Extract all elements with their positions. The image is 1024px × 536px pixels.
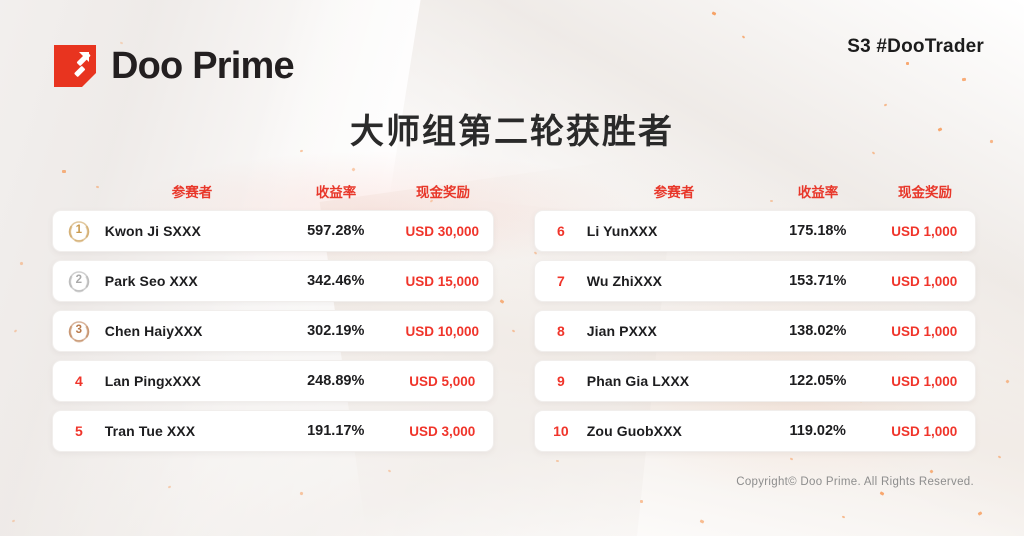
confetti-dot [998,455,1002,458]
header-participant-right: 参赛者 [586,181,762,201]
table-row[interactable]: 5Tran Tue XXX191.17%USD 3,000 [52,410,494,452]
confetti-dot [1005,379,1009,383]
brand-logo: Doo Prime [52,43,294,89]
copyright-text: Copyright© Doo Prime. All Rights Reserve… [736,476,974,488]
rank-number: 10 [535,423,587,439]
column-header-row-left: 参赛者 收益率 现金奖励 [52,180,494,202]
leaderboard-left-column: 参赛者 收益率 现金奖励 1Kwon Ji SXXX597.28%USD 30,… [52,180,494,460]
return-rate-value: 248.89% [280,373,392,389]
header-return-rate-left: 收益率 [280,181,392,201]
return-rate-value: 302.19% [280,323,392,339]
table-row[interactable]: 2Park Seo XXX342.46%USD 15,000 [52,260,494,302]
cash-prize-value: USD 3,000 [391,424,493,439]
leaderboard-right-column: 参赛者 收益率 现金奖励 6Li YunXXX175.18%USD 1,0007… [534,180,976,460]
return-rate-value: 175.18% [762,223,874,239]
confetti-dot [906,62,909,65]
poster-canvas: Doo Prime S3 #DooTrader 大师组第二轮获胜者 参赛者 收益… [0,0,1024,536]
confetti-dot [929,469,933,473]
return-rate-value: 597.28% [280,223,392,239]
return-rate-value: 153.71% [762,273,874,289]
leaderboard-rows-left: 1Kwon Ji SXXX597.28%USD 30,0002Park Seo … [52,210,494,452]
table-row[interactable]: 8Jian PXXX138.02%USD 1,000 [534,310,976,352]
table-row[interactable]: 1Kwon Ji SXXX597.28%USD 30,000 [52,210,494,252]
doo-prime-mark-icon [52,43,98,89]
rank-number: 8 [535,323,587,339]
rank-number: 5 [53,423,105,439]
header-participant-left: 参赛者 [104,181,280,201]
confetti-dot [168,486,172,489]
return-rate-value: 191.17% [280,423,392,439]
leaderboard: 参赛者 收益率 现金奖励 1Kwon Ji SXXX597.28%USD 30,… [52,180,976,460]
participant-name: Lan PingxXXX [105,373,280,389]
cash-prize-value: USD 10,000 [391,324,493,339]
table-row[interactable]: 7Wu ZhiXXX153.71%USD 1,000 [534,260,976,302]
rank-number: 7 [535,273,587,289]
rank-medal-silver-icon: 2 [53,268,105,294]
confetti-dot [12,520,16,523]
confetti-dot [880,491,885,496]
participant-name: Chen HaiyXXX [105,323,280,339]
rank-medal-bronze-icon: 3 [53,318,105,344]
return-rate-value: 119.02% [762,423,874,439]
cash-prize-value: USD 1,000 [873,424,975,439]
confetti-dot [388,469,392,472]
header-cash-prize-left: 现金奖励 [392,181,494,201]
page-title: 大师组第二轮获胜者 [0,104,1024,153]
confetti-dot [842,516,845,519]
brand-logo-text: Doo Prime [111,47,294,85]
confetti-dot [712,11,717,15]
confetti-dot [742,35,746,38]
rank-medal-gold-icon: 1 [53,218,105,244]
confetti-dot [556,460,559,462]
cash-prize-value: USD 15,000 [391,274,493,289]
table-row[interactable]: 10Zou GuobXXX119.02%USD 1,000 [534,410,976,452]
header-return-rate-right: 收益率 [762,181,874,201]
participant-name: Kwon Ji SXXX [105,223,280,239]
leaderboard-rows-right: 6Li YunXXX175.18%USD 1,0007Wu ZhiXXX153.… [534,210,976,452]
participant-name: Phan Gia LXXX [587,373,762,389]
confetti-dot [14,329,18,332]
participant-name: Park Seo XXX [105,273,280,289]
rank-number: 9 [535,373,587,389]
confetti-dot [640,500,643,503]
rank-number: 4 [53,373,105,389]
confetti-dot [962,78,966,81]
cash-prize-value: USD 1,000 [873,274,975,289]
confetti-dot [300,492,304,496]
return-rate-value: 138.02% [762,323,874,339]
cash-prize-value: USD 1,000 [873,224,975,239]
confetti-dot [20,262,24,266]
confetti-dot [978,511,983,516]
campaign-hashtag: S3 #DooTrader [847,36,984,58]
participant-name: Jian PXXX [587,323,762,339]
header-cash-prize-right: 现金奖励 [874,181,976,201]
participant-name: Tran Tue XXX [105,423,280,439]
table-row[interactable]: 9Phan Gia LXXX122.05%USD 1,000 [534,360,976,402]
table-row[interactable]: 4Lan PingxXXX248.89%USD 5,000 [52,360,494,402]
confetti-dot [62,170,66,173]
confetti-dot [351,167,355,171]
participant-name: Wu ZhiXXX [587,273,762,289]
column-header-row-right: 参赛者 收益率 现金奖励 [534,180,976,202]
table-row[interactable]: 6Li YunXXX175.18%USD 1,000 [534,210,976,252]
return-rate-value: 342.46% [280,273,392,289]
cash-prize-value: USD 1,000 [873,374,975,389]
participant-name: Li YunXXX [587,223,762,239]
cash-prize-value: USD 1,000 [873,324,975,339]
participant-name: Zou GuobXXX [587,423,762,439]
table-row[interactable]: 3Chen HaiyXXX302.19%USD 10,000 [52,310,494,352]
rank-number: 6 [535,223,587,239]
cash-prize-value: USD 30,000 [391,224,493,239]
return-rate-value: 122.05% [762,373,874,389]
cash-prize-value: USD 5,000 [391,374,493,389]
confetti-dot [700,519,705,523]
